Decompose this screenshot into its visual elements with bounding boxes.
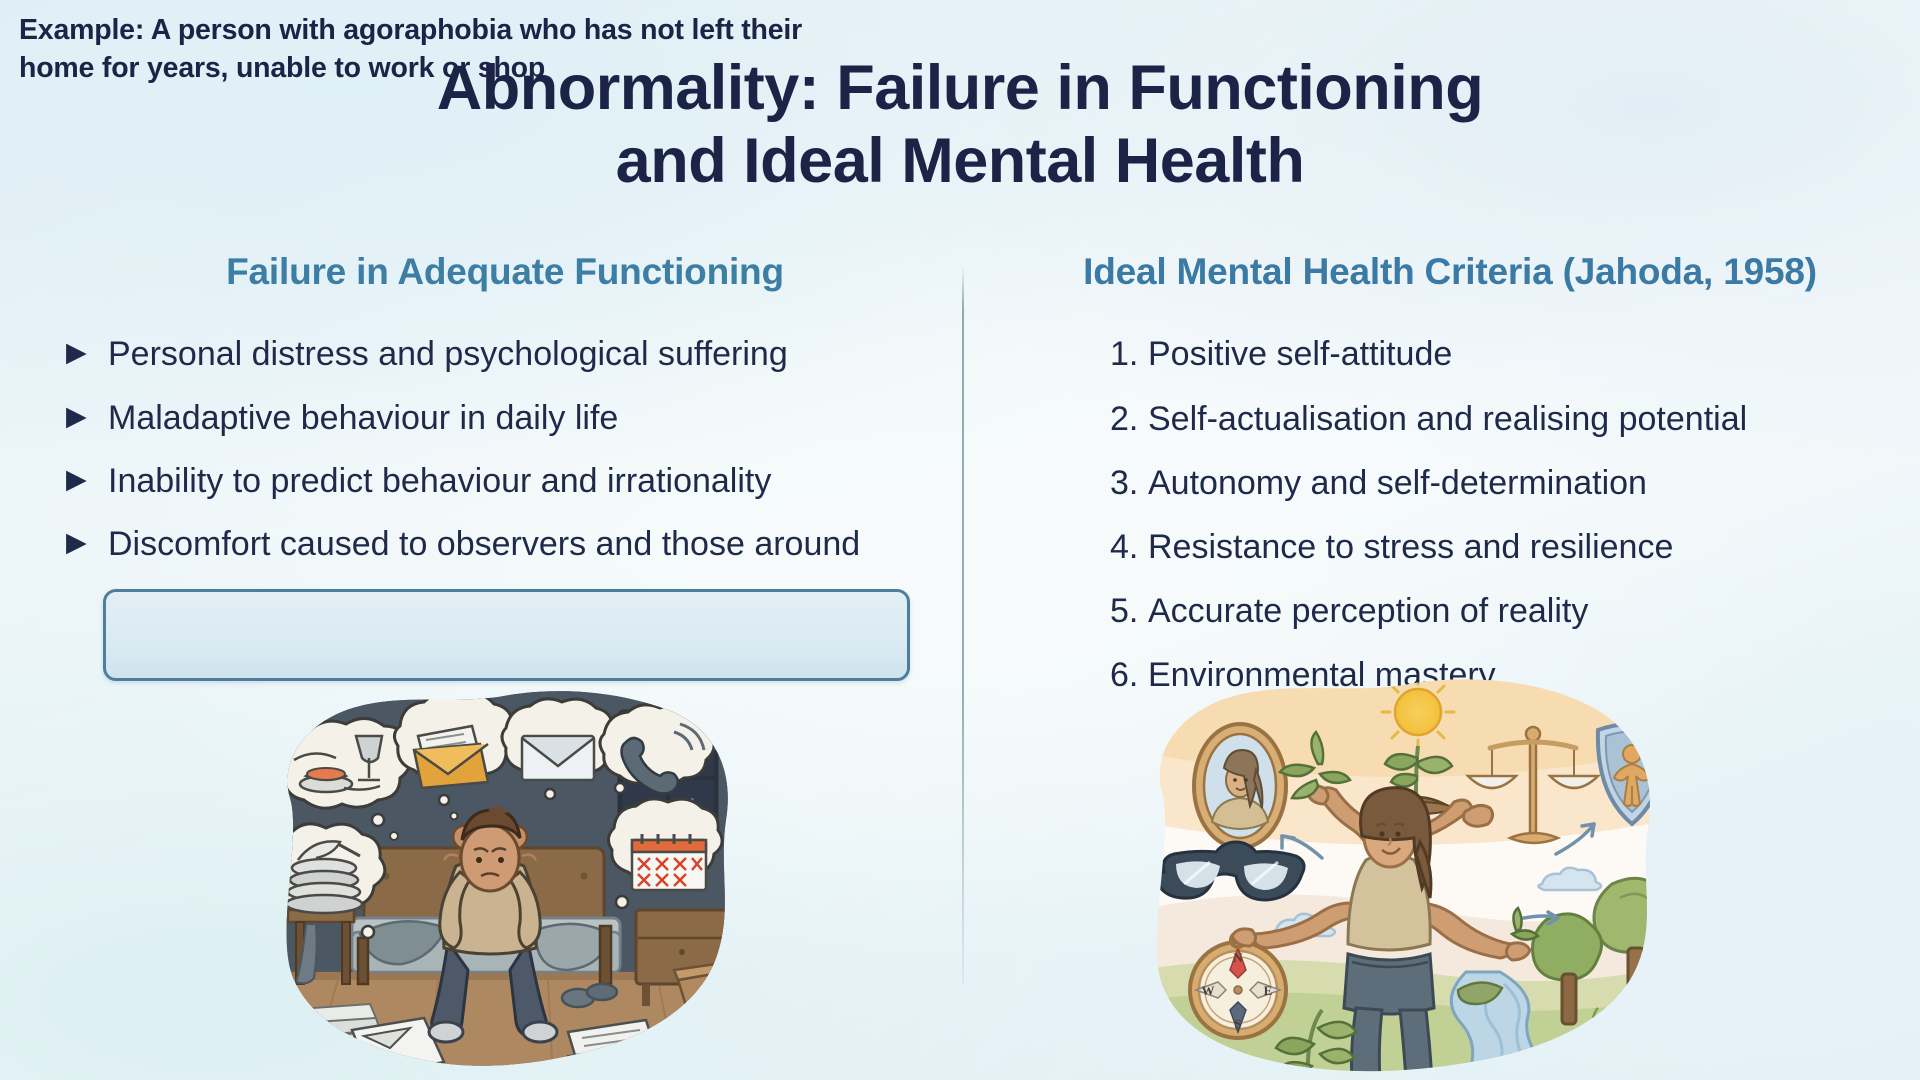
list-item-label: Resistance to stress and resilience xyxy=(1148,525,1900,570)
example-callout-text: Example: A person with agoraphobia who h… xyxy=(19,12,879,87)
list-item: 2. Self-actualisation and realising pote… xyxy=(1110,397,1900,461)
ideal-mental-health-illustration: N E S W xyxy=(1100,672,1680,1080)
triangle-bullet-icon: ▶ xyxy=(66,396,99,438)
list-item-label: Accurate perception of reality xyxy=(1148,589,1900,634)
compass-label-s: S xyxy=(1234,1016,1241,1031)
list-item-label: Discomfort caused to observers and those… xyxy=(108,522,950,567)
mirror-self-portrait xyxy=(1194,724,1286,848)
compass-label-n: N xyxy=(1233,950,1243,965)
ideal-mental-health-scene: N E S W xyxy=(1100,672,1680,1080)
list-item-label: Autonomy and self-determination xyxy=(1148,461,1900,506)
triangle-bullet-icon: ▶ xyxy=(66,332,99,374)
left-column-heading: Failure in Adequate Functioning xyxy=(60,250,950,294)
list-item: 1. Positive self-attitude xyxy=(1110,332,1900,396)
compass-label-e: E xyxy=(1264,983,1273,998)
list-item: ▶ Maladaptive behaviour in daily life xyxy=(60,396,950,459)
list-item: ▶ Discomfort caused to observers and tho… xyxy=(60,522,950,585)
right-column: Ideal Mental Health Criteria (Jahoda, 19… xyxy=(1000,250,1900,718)
list-item-label: Positive self-attitude xyxy=(1148,332,1900,377)
compass-label-w: W xyxy=(1202,983,1215,998)
bedroom-scene xyxy=(248,680,748,1080)
right-column-heading: Ideal Mental Health Criteria (Jahoda, 19… xyxy=(1000,250,1900,294)
list-item: ▶ Personal distress and psychological su… xyxy=(60,332,950,395)
cardboard-box xyxy=(674,962,746,1012)
list-item-number: 5. xyxy=(1110,589,1148,634)
distressed-man-illustration xyxy=(248,680,748,1080)
list-item-label: Self-actualisation and realising potenti… xyxy=(1148,397,1900,442)
triangle-bullet-icon: ▶ xyxy=(66,522,99,564)
list-item-number: 2. xyxy=(1110,397,1148,442)
slide-root: Abnormality: Failure in Functioning and … xyxy=(0,0,1920,1080)
left-column: Failure in Adequate Functioning ▶ Person… xyxy=(60,250,950,585)
page-title-line2: and Ideal Mental Health xyxy=(0,125,1920,198)
list-item-number: 3. xyxy=(1110,461,1148,506)
failure-bullet-list: ▶ Personal distress and psychological su… xyxy=(60,332,950,585)
list-item: 4. Resistance to stress and resilience xyxy=(1110,525,1900,589)
list-item-label: Maladaptive behaviour in daily life xyxy=(108,396,950,441)
list-item: 3. Autonomy and self-determination xyxy=(1110,461,1900,525)
jahoda-criteria-list: 1. Positive self-attitude 2. Self-actual… xyxy=(1000,332,1900,717)
vertical-divider xyxy=(962,266,964,984)
list-item-number: 1. xyxy=(1110,332,1148,377)
list-item: 5. Accurate perception of reality xyxy=(1110,589,1900,653)
list-item-label: Inability to predict behaviour and irrat… xyxy=(108,459,950,504)
example-callout-box xyxy=(103,589,910,681)
list-item-number: 4. xyxy=(1110,525,1148,570)
triangle-bullet-icon: ▶ xyxy=(66,459,99,501)
list-item: ▶ Inability to predict behaviour and irr… xyxy=(60,459,950,522)
list-item-label: Personal distress and psychological suff… xyxy=(108,332,950,377)
